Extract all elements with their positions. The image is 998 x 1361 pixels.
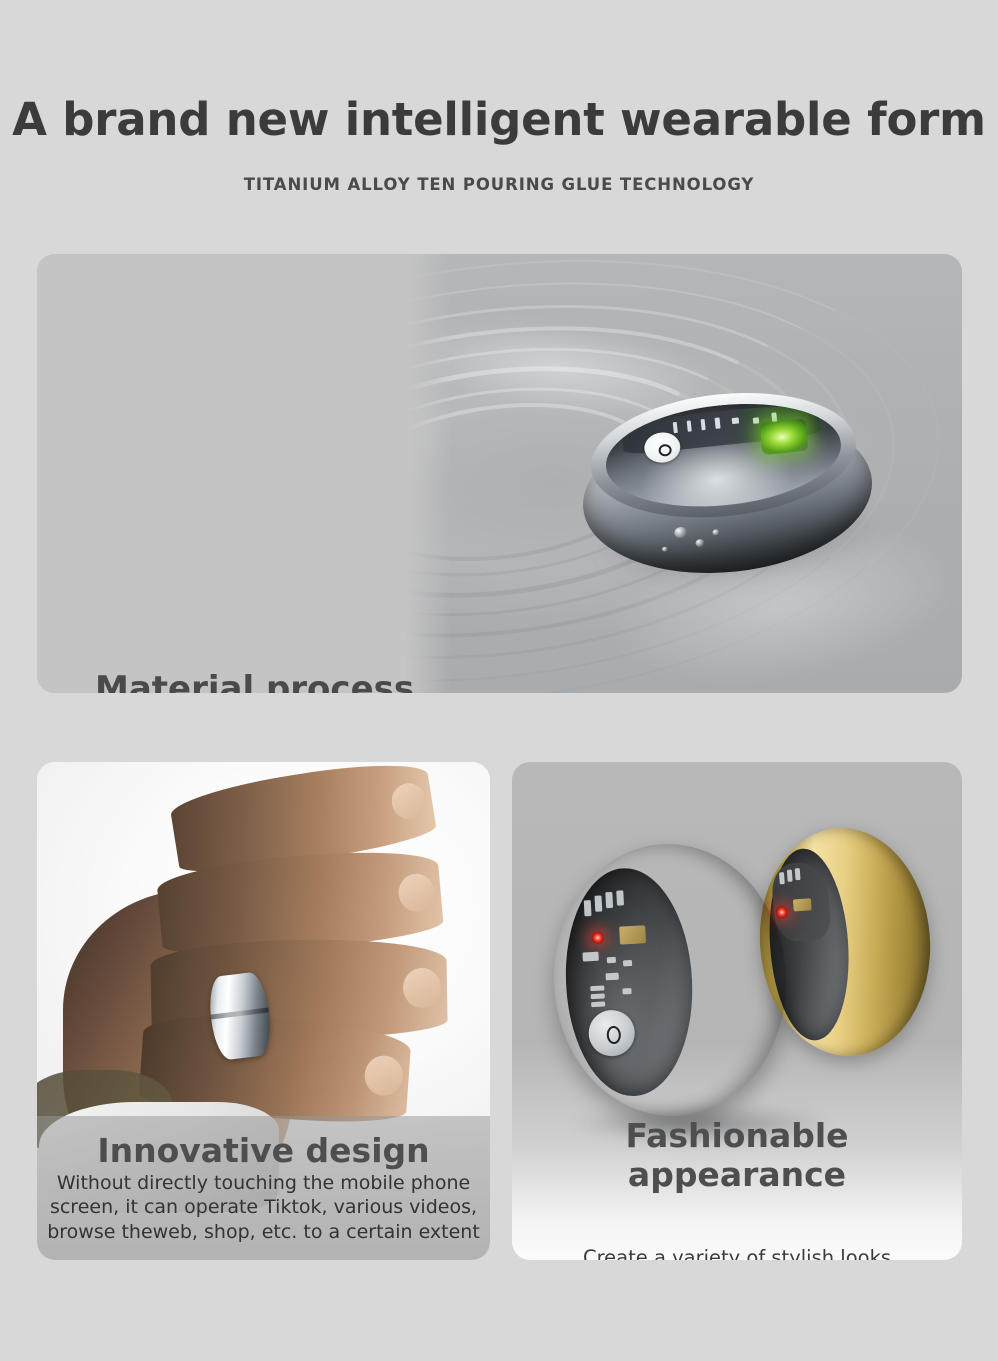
circuit-chip [619, 925, 646, 944]
fingernail [403, 968, 442, 1009]
smart-ring-product-image [573, 379, 881, 598]
page-subtitle: TITANIUM ALLOY TEN POURING GLUE TECHNOLO… [0, 145, 998, 194]
feature-card-fashionable-appearance: Fashionable appearance Create a variety … [512, 762, 962, 1260]
card-body-innovative-design: Without directly touching the mobile pho… [47, 1171, 480, 1244]
circuit-pad [591, 1001, 605, 1007]
fingernail [397, 872, 436, 913]
silver-smart-ring [547, 838, 793, 1122]
feature-card-innovative-design: Innovative design Without directly touch… [37, 762, 490, 1260]
card-body-fashionable-appearance: Create a variety of stylish looks [512, 1246, 962, 1260]
innovative-design-copy: Innovative design Without directly touch… [37, 1116, 490, 1260]
green-led-indicator [759, 418, 808, 455]
circuit-pad [582, 952, 598, 962]
fingernail [389, 781, 428, 822]
two-smart-rings-photo [512, 808, 962, 1138]
page-header: A brand new intelligent wearable form TI… [0, 0, 998, 194]
circuit-pad [753, 417, 760, 424]
card-title-material-process: Material process [95, 670, 455, 693]
circuit-pad [606, 973, 619, 981]
circuit-pad [731, 417, 739, 424]
circuit-pad [795, 868, 801, 880]
optical-sensor-icon [588, 1009, 636, 1057]
circuit-pad [594, 895, 602, 911]
circuit-pad [787, 870, 793, 882]
fashionable-appearance-copy: Fashionable appearance Create a variety … [512, 1116, 962, 1260]
text-panel-backdrop [37, 254, 405, 693]
circuit-pad [623, 960, 632, 966]
card-title-innovative-design: Innovative design [47, 1134, 480, 1169]
material-process-copy: Material process 5ATM level waterproof c… [95, 670, 455, 693]
circuit-pad [605, 892, 613, 908]
circuit-pad [584, 900, 592, 916]
ring-inner-cavity [560, 865, 698, 1099]
circuit-pad [622, 988, 631, 994]
fingernail [363, 1054, 404, 1097]
page-title: A brand new intelligent wearable form [0, 0, 998, 145]
circuit-pad [607, 957, 616, 963]
text-panel-fade [405, 254, 451, 693]
circuit-pad [616, 890, 624, 905]
card-title-fashionable-appearance: Fashionable appearance [512, 1116, 962, 1194]
circuit-pad [590, 985, 604, 991]
circuit-chip [793, 898, 812, 911]
circuit-pad [779, 872, 785, 884]
feature-card-material-process: Material process 5ATM level waterproof c… [37, 254, 962, 693]
circuit-pad [591, 993, 605, 999]
red-led-indicator [591, 931, 604, 944]
